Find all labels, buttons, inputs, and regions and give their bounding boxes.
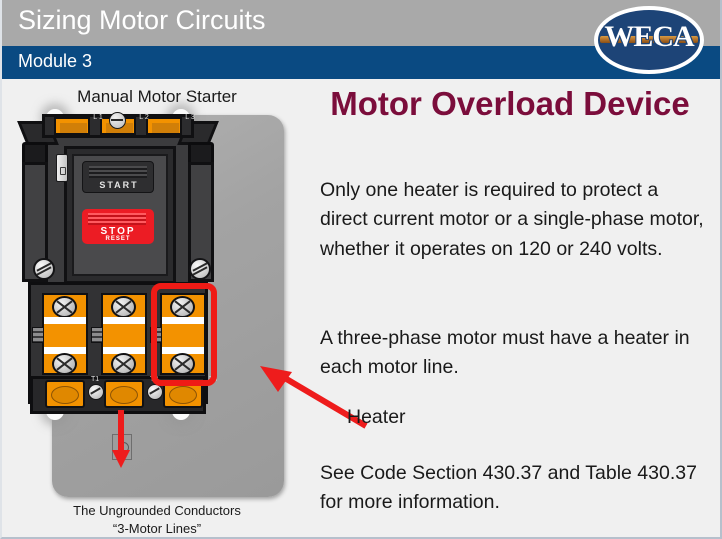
stop-button-ridges <box>88 213 146 225</box>
content-panel: Motor Overload Device Only one heater is… <box>312 80 712 539</box>
start-button-label: START <box>83 180 155 190</box>
top-center-screw-icon <box>109 112 126 129</box>
page-title: Sizing Motor Circuits <box>18 5 266 36</box>
start-button[interactable]: START <box>82 161 154 193</box>
logo-text: WECA <box>594 20 704 54</box>
device-illustration-panel: Manual Motor Starter L 1 L 2 L 3 START <box>2 84 312 539</box>
heater-callout-label: Heater <box>347 406 406 429</box>
starter-caption-top: Manual Motor Starter <box>2 87 312 107</box>
line-terminal-label-l2: L 2 <box>138 114 150 121</box>
line-terminal-label-l3: L 3 <box>184 114 196 121</box>
heater-highlight-rectangle <box>151 283 217 386</box>
heater-band-top-2 <box>103 317 145 324</box>
line-terminal-l3 <box>146 117 182 135</box>
body-screw-left-icon <box>33 258 55 280</box>
load-lug-t1 <box>45 380 85 408</box>
heater-block-1 <box>42 293 88 375</box>
reset-button-label: RESET <box>82 236 154 242</box>
paragraph-one: Only one heater is required to protect a… <box>320 176 705 264</box>
line-terminal-l1 <box>54 117 90 135</box>
paragraph-two: A three-phase motor must have a heater i… <box>320 324 705 383</box>
heater-screw-top-1-icon <box>52 296 77 318</box>
load-lug-t2 <box>104 380 144 408</box>
heater-screw-bottom-2-icon <box>111 353 136 375</box>
content-headline: Motor Overload Device <box>312 84 708 124</box>
heater-clip-2 <box>91 327 103 343</box>
heater-screw-top-2-icon <box>111 296 136 318</box>
line-terminal-label-l1: L 1 <box>92 114 104 121</box>
slide-canvas: Sizing Motor Circuits Module 3 WECA Manu… <box>0 0 722 539</box>
load-row-screw-1-icon <box>88 384 104 400</box>
heater-block-2 <box>101 293 147 375</box>
stop-reset-button[interactable]: STOP RESET <box>82 209 154 244</box>
body-screw-right-icon <box>189 258 211 280</box>
heater-screw-bottom-1-icon <box>52 353 77 375</box>
motor-lines-down-arrow-icon <box>112 410 130 468</box>
paragraph-three: See Code Section 430.37 and Table 430.37… <box>320 459 705 518</box>
heater-band-top-1 <box>44 317 86 324</box>
caption-bottom-line-2: “3-Motor Lines” <box>2 520 312 538</box>
module-label: Module 3 <box>18 51 92 72</box>
caption-bottom-line-1: The Ungrounded Conductors <box>2 502 312 520</box>
starter-caption-bottom: The Ungrounded Conductors “3-Motor Lines… <box>2 502 312 538</box>
load-terminal-label-t1: T1 <box>91 376 99 383</box>
latch-lock-icon[interactable] <box>56 154 68 182</box>
weca-logo: WECA <box>594 6 704 74</box>
heater-clip-1 <box>32 327 44 343</box>
start-button-ridges <box>89 166 147 178</box>
load-row-screw-2-icon <box>147 384 163 400</box>
